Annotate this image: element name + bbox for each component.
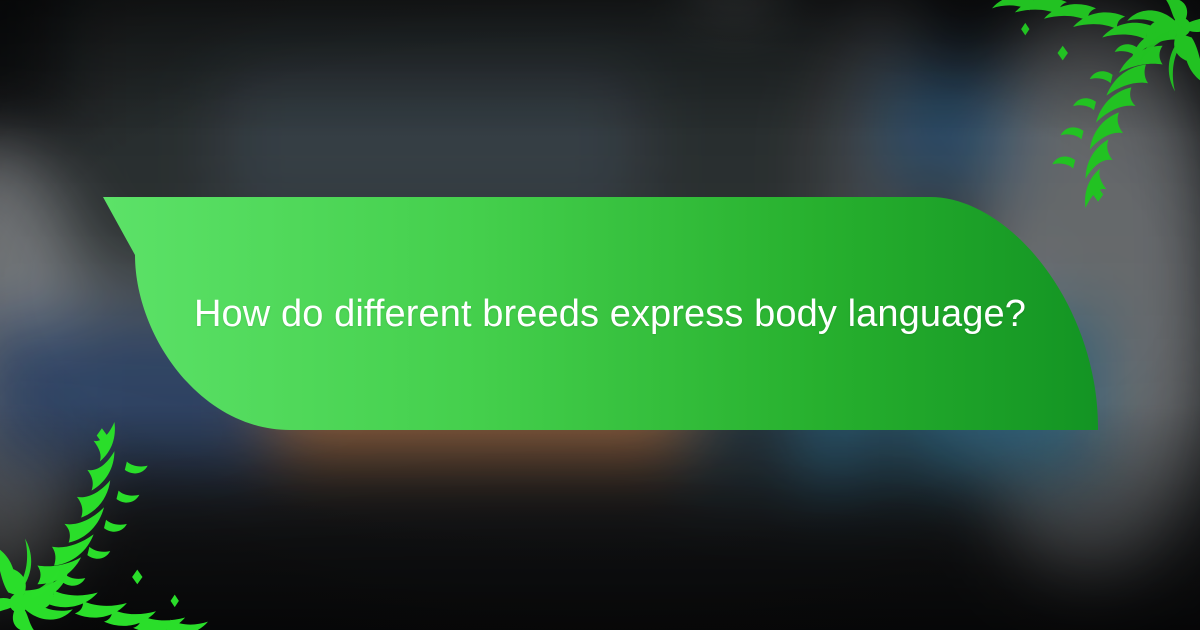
page-title: How do different breeds express body lan… bbox=[194, 287, 1026, 342]
share-card: How do different breeds express body lan… bbox=[0, 0, 1200, 630]
headline-text-wrapper: How do different breeds express body lan… bbox=[150, 185, 1070, 445]
bg-shape-blue-topright bbox=[880, 60, 1010, 190]
